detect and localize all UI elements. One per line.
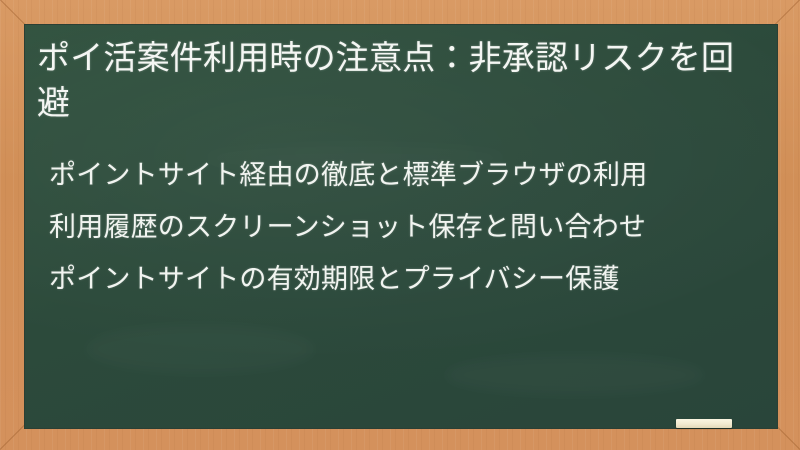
board-line: ポイントサイト経由の徹底と標準ブラウザの利用 (49, 149, 761, 201)
blackboard-surface: ポイ活案件利用時の注意点：非承認リスクを回避 ポイントサイト経由の徹底と標準ブラ… (25, 25, 777, 428)
board-line-list: ポイントサイト経由の徹底と標準ブラウザの利用 利用履歴のスクリーンショット保存と… (31, 125, 761, 305)
board-line: ポイントサイトの有効期限とプライバシー保護 (49, 253, 761, 305)
board-content: ポイ活案件利用時の注意点：非承認リスクを回避 ポイントサイト経由の徹底と標準ブラ… (25, 25, 777, 428)
thumbnail-canvas: ポイ活案件利用時の注意点：非承認リスクを回避 ポイントサイト経由の徹底と標準ブラ… (0, 0, 800, 450)
blackboard: ポイ活案件利用時の注意点：非承認リスクを回避 ポイントサイト経由の徹底と標準ブラ… (25, 25, 777, 428)
chalk-stick-icon (676, 419, 732, 428)
board-line: 利用履歴のスクリーンショット保存と問い合わせ (49, 201, 761, 253)
page-title: ポイ活案件利用時の注意点：非承認リスクを回避 (31, 35, 761, 125)
